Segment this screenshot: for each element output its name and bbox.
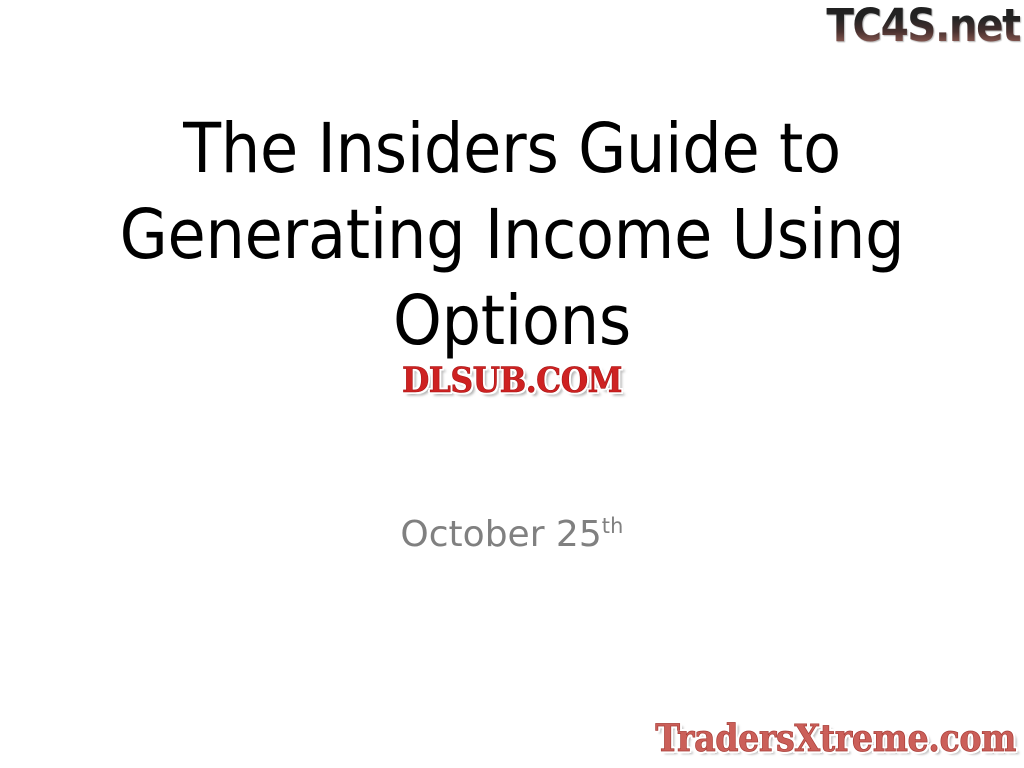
- watermark-tradersxtreme-com: TradersXtreme.com: [655, 718, 1016, 758]
- slide-title-line-2: Generating Income Using: [0, 192, 1024, 278]
- slide-subtitle-date: October 25: [400, 514, 601, 555]
- slide-subtitle-ordinal-suffix: th: [602, 514, 624, 538]
- slide-title-line-3: Options: [0, 278, 1024, 364]
- watermark-dlsub-com: DLSUB.COM: [402, 362, 622, 400]
- watermark-tradersxtreme-com-container: TradersXtreme.com: [655, 718, 1016, 758]
- slide-title: The Insiders Guide to Generating Income …: [0, 106, 1024, 364]
- slide-title-line-1: The Insiders Guide to: [0, 106, 1024, 192]
- presentation-slide: TC4S.net The Insiders Guide to Generatin…: [0, 0, 1024, 768]
- watermark-dlsub-com-container: DLSUB.COM: [0, 362, 1024, 400]
- watermark-tc4s-net: TC4S.net: [826, 2, 1020, 50]
- slide-subtitle: October 25th: [0, 504, 1024, 557]
